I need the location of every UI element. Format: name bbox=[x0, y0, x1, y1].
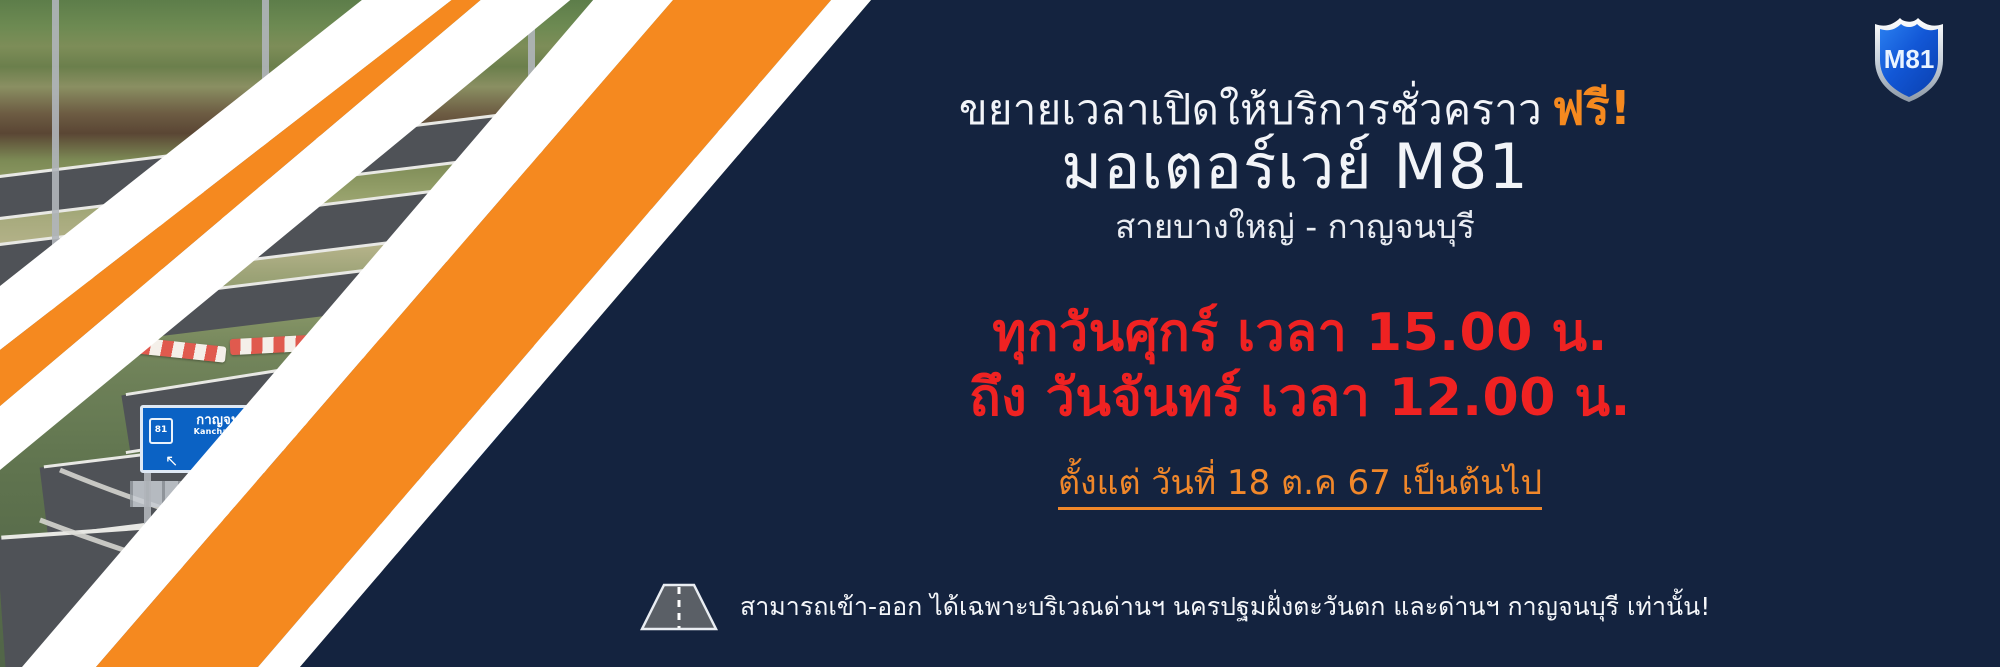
overhead-gantry: 81 กาญจนบุรี Kanchanaburi ↖ 81 นครปฐม Na… bbox=[130, 387, 550, 507]
lamp-pole bbox=[52, 0, 59, 250]
sign-thai-label: นครปฐม bbox=[368, 413, 442, 427]
sign-thai-label: กรุงเทพ bbox=[456, 413, 500, 427]
effective-date-text: ตั้งแต่ วันที่ 18 ต.ค 67 เป็นต้นไป bbox=[1058, 463, 1542, 510]
schedule-end-line: ถึง วันจันทร์ เวลา 12.00 น. bbox=[700, 355, 1900, 438]
road-icon bbox=[640, 583, 718, 631]
sign-english-label: Nakhon Pathom bbox=[368, 427, 442, 436]
sign-arrow-icon: ↓ bbox=[424, 454, 437, 470]
footer-note-row: สามารถเข้า-ออก ได้เฉพาะบริเวณด่านฯ นครปฐ… bbox=[640, 583, 1710, 631]
effective-date-line: ตั้งแต่ วันที่ 18 ต.ค 67 เป็นต้นไป bbox=[700, 455, 1900, 509]
sign-arrow-icon: ↖ bbox=[165, 453, 178, 469]
sign-thai-label: กาญจนบุรี bbox=[169, 414, 283, 428]
sign-english-label: Kanchanaburi bbox=[169, 428, 283, 437]
gantry-leg bbox=[522, 457, 529, 577]
banner-text-content: ขยายเวลาเปิดให้บริการชั่วคราวฟรี! มอเตอร… bbox=[700, 0, 1960, 667]
gantry-leg bbox=[330, 457, 337, 577]
route-badge-icon: 81 bbox=[344, 418, 368, 444]
gantry-leg bbox=[144, 457, 151, 577]
gantry-truss bbox=[130, 481, 550, 507]
route-badge-icon: 81 bbox=[149, 418, 173, 444]
route-subtitle: สายบางใหญ่ - กาญจนบุรี bbox=[700, 200, 1890, 253]
road-sign-kanchanaburi: 81 กาญจนบุรี Kanchanaburi ↖ bbox=[140, 405, 286, 473]
sign-english-label: Bangkok bbox=[456, 427, 500, 436]
promo-banner: 81 กาญจนบุรี Kanchanaburi ↖ 81 นครปฐม Na… bbox=[0, 0, 2000, 667]
footer-note-text: สามารถเข้า-ออก ได้เฉพาะบริเวณด่านฯ นครปฐ… bbox=[740, 587, 1710, 627]
lamp-pole bbox=[528, 0, 535, 300]
road-sign-nakhonpathom-bangkok: 81 นครปฐม Nakhon Pathom กรุงเทพ Bangkok … bbox=[335, 405, 526, 473]
lamp-pole bbox=[262, 0, 269, 210]
